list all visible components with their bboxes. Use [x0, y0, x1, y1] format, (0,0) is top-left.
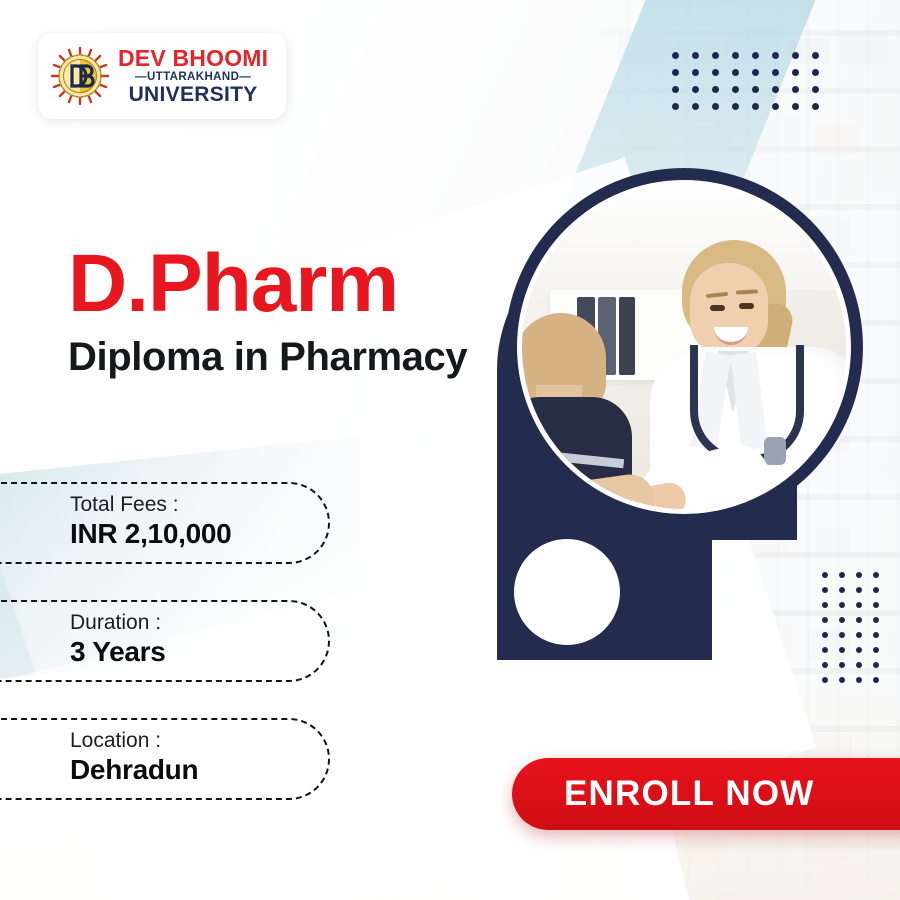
grid-dot: [812, 103, 819, 110]
grid-dot: [672, 69, 679, 76]
grid-dot: [839, 677, 845, 683]
grid-dot: [839, 662, 845, 668]
grid-dot: [732, 69, 739, 76]
grid-dot: [752, 103, 759, 110]
detail-value: INR 2,10,000: [70, 517, 328, 551]
grid-dot: [692, 103, 699, 110]
detail-pill-location: Location : Dehradun: [0, 718, 330, 800]
detail-value: Dehradun: [70, 753, 328, 787]
grid-dot: [672, 86, 679, 93]
grid-dot: [772, 52, 779, 59]
grid-dot: [873, 662, 879, 668]
page-title: D.Pharm: [68, 243, 398, 325]
logo-wordmark: DEV BHOOMI —UTTARAKHAND— UNIVERSITY: [118, 47, 268, 106]
grid-dot: [752, 69, 759, 76]
grid-dot: [672, 52, 679, 59]
grid-dot: [822, 677, 828, 683]
db-monogram-seal-icon: [50, 46, 110, 106]
grid-dot: [672, 103, 679, 110]
logo-line-2: —UTTARAKHAND—: [135, 72, 251, 84]
grid-dot: [822, 662, 828, 668]
grid-dot: [732, 86, 739, 93]
grid-dot: [812, 86, 819, 93]
grid-dot: [712, 69, 719, 76]
grid-dot: [712, 52, 719, 59]
grid-dot: [873, 677, 879, 683]
grid-dot: [712, 103, 719, 110]
logo-line-3: UNIVERSITY: [129, 84, 258, 105]
detail-label: Location :: [70, 729, 328, 753]
white-circle-accent: [508, 533, 626, 651]
pharmacist-consultation-photo: [517, 180, 851, 514]
detail-label: Total Fees :: [70, 493, 328, 517]
grid-dot: [732, 52, 739, 59]
grid-dot: [856, 662, 862, 668]
detail-value: 3 Years: [70, 635, 328, 669]
detail-pill-duration: Duration : 3 Years: [0, 600, 330, 682]
grid-dot: [856, 677, 862, 683]
grid-dot: [692, 69, 699, 76]
grid-dot: [712, 86, 719, 93]
page-subtitle: Diploma in Pharmacy: [68, 337, 467, 377]
grid-dot: [792, 103, 799, 110]
grid-dot: [812, 69, 819, 76]
grid-dot: [732, 103, 739, 110]
grid-dot: [792, 86, 799, 93]
enroll-now-button[interactable]: ENROLL NOW: [512, 758, 900, 830]
dot-grid-icon-top-right: [672, 52, 832, 120]
university-logo[interactable]: DEV BHOOMI —UTTARAKHAND— UNIVERSITY: [38, 33, 286, 119]
grid-dot: [772, 103, 779, 110]
grid-dot: [752, 86, 759, 93]
promo-poster: DEV BHOOMI —UTTARAKHAND— UNIVERSITY: [0, 0, 900, 900]
detail-pill-total-fees: Total Fees : INR 2,10,000: [0, 482, 330, 564]
grid-dot: [792, 69, 799, 76]
grid-dot: [812, 52, 819, 59]
grid-dot: [752, 52, 759, 59]
grid-dot: [772, 86, 779, 93]
grid-dot: [692, 86, 699, 93]
enroll-now-label: ENROLL NOW: [564, 774, 815, 814]
grid-dot: [772, 69, 779, 76]
detail-label: Duration :: [70, 611, 328, 635]
grid-dot: [692, 52, 699, 59]
logo-line-1: DEV BHOOMI: [118, 47, 268, 70]
grid-dot: [792, 52, 799, 59]
